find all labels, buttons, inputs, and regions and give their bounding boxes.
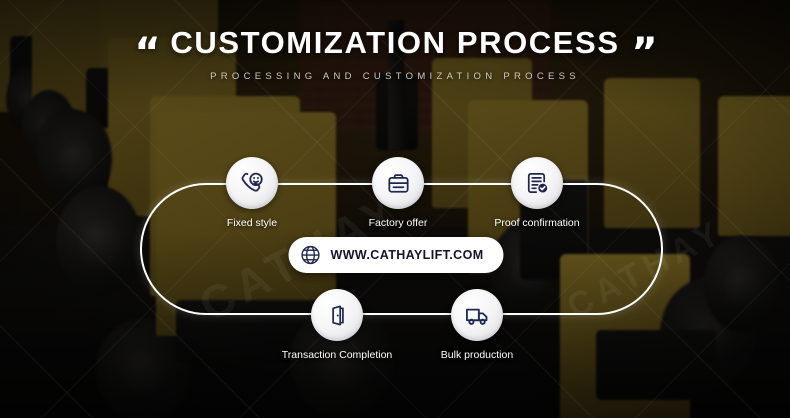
website-url-badge[interactable]: WWW.CATHAYLIFT.COM xyxy=(288,237,503,273)
step-icon-bubble xyxy=(311,289,363,341)
step-label: Proof confirmation xyxy=(494,217,579,229)
customer-service-phone-icon xyxy=(239,170,266,197)
document-check-icon xyxy=(524,170,550,196)
step-icon-bubble xyxy=(511,157,563,209)
step-icon-bubble xyxy=(451,289,503,341)
briefcase-icon xyxy=(386,171,411,196)
process-step-bulk-production[interactable]: Bulk production xyxy=(451,289,503,341)
delivery-truck-icon xyxy=(464,302,491,329)
step-label: Factory offer xyxy=(369,217,428,229)
door-exit-icon xyxy=(325,303,350,328)
step-icon-bubble xyxy=(372,157,424,209)
process-step-fixed-style[interactable]: Fixed style xyxy=(226,157,278,209)
globe-icon xyxy=(299,244,321,266)
website-url-text: WWW.CATHAYLIFT.COM xyxy=(330,248,483,262)
step-label: Transaction Completion xyxy=(282,349,393,361)
process-step-transaction-completion[interactable]: Transaction Completion xyxy=(311,289,363,341)
process-step-factory-offer[interactable]: Factory offer xyxy=(372,157,424,209)
quote-open-icon: “ xyxy=(134,33,160,73)
page-subtitle: PROCESSING AND CUSTOMIZATION PROCESS xyxy=(0,71,790,82)
page-title: CUSTOMIZATION PROCESS xyxy=(170,27,619,58)
step-label: Fixed style xyxy=(227,217,277,229)
customization-process-banner: CATHAY CATHAY “ CUSTOMIZATION PROCESS ” … xyxy=(0,0,790,418)
quote-close-icon: ” xyxy=(631,33,657,73)
title-row: “ CUSTOMIZATION PROCESS ” xyxy=(136,27,653,58)
banner-header: “ CUSTOMIZATION PROCESS ” PROCESSING AND… xyxy=(0,27,790,82)
process-step-proof-confirmation[interactable]: Proof confirmation xyxy=(511,157,563,209)
step-label: Bulk production xyxy=(441,349,513,361)
step-icon-bubble xyxy=(226,157,278,209)
